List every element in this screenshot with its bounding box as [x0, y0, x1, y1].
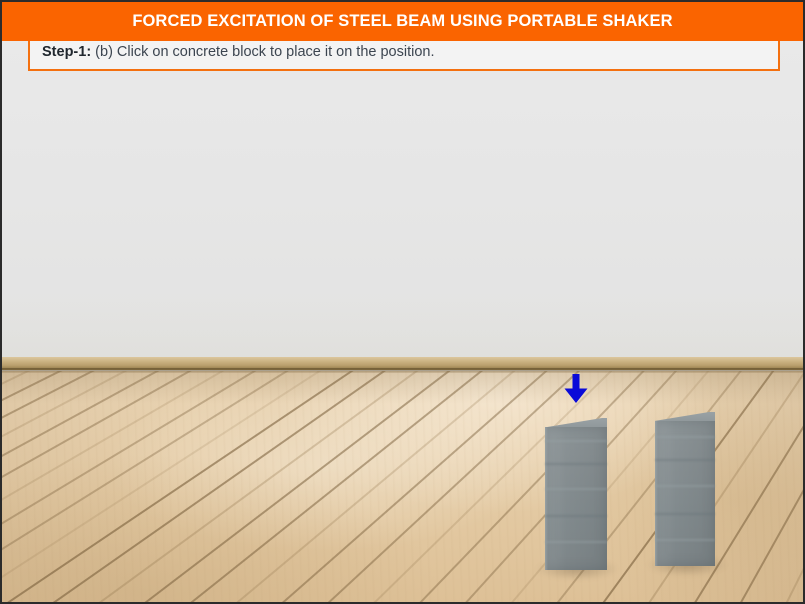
concrete-block-right-seam	[655, 539, 715, 541]
concrete-block-right-seam	[655, 436, 715, 438]
down-arrow-icon	[563, 374, 589, 404]
instruction-step-label: Step-1:	[42, 44, 91, 60]
concrete-block-left-front-face	[545, 427, 607, 570]
concrete-block-right-front-face	[655, 421, 715, 566]
simulation-window: FORCED EXCITATION OF STEEL BEAM USING PO…	[0, 0, 805, 604]
concrete-block-right[interactable]	[655, 421, 715, 566]
concrete-block-left-seam	[545, 463, 607, 465]
concrete-block-left-seam	[545, 541, 607, 543]
concrete-block-right-seam	[655, 513, 715, 515]
page-title: FORCED EXCITATION OF STEEL BEAM USING PO…	[132, 12, 672, 31]
concrete-block-left-seam	[545, 515, 607, 517]
concrete-block-left-seam	[545, 488, 607, 490]
concrete-block-right-seam	[655, 459, 715, 461]
instruction-text: Step-1: (b) Click on concrete block to p…	[30, 44, 435, 60]
concrete-block-left-edge	[545, 427, 548, 570]
title-bar: FORCED EXCITATION OF STEEL BEAM USING PO…	[2, 2, 803, 41]
concrete-block-left[interactable]	[545, 427, 607, 570]
concrete-block-left-seam	[545, 440, 607, 442]
instruction-step-text: (b) Click on concrete block to place it …	[91, 44, 434, 60]
concrete-block-right-seam	[655, 485, 715, 487]
scene-upper-panel	[2, 41, 803, 357]
concrete-block-right-edge	[655, 421, 658, 566]
baseboard-shadow	[2, 368, 803, 373]
wall-background	[2, 41, 803, 357]
